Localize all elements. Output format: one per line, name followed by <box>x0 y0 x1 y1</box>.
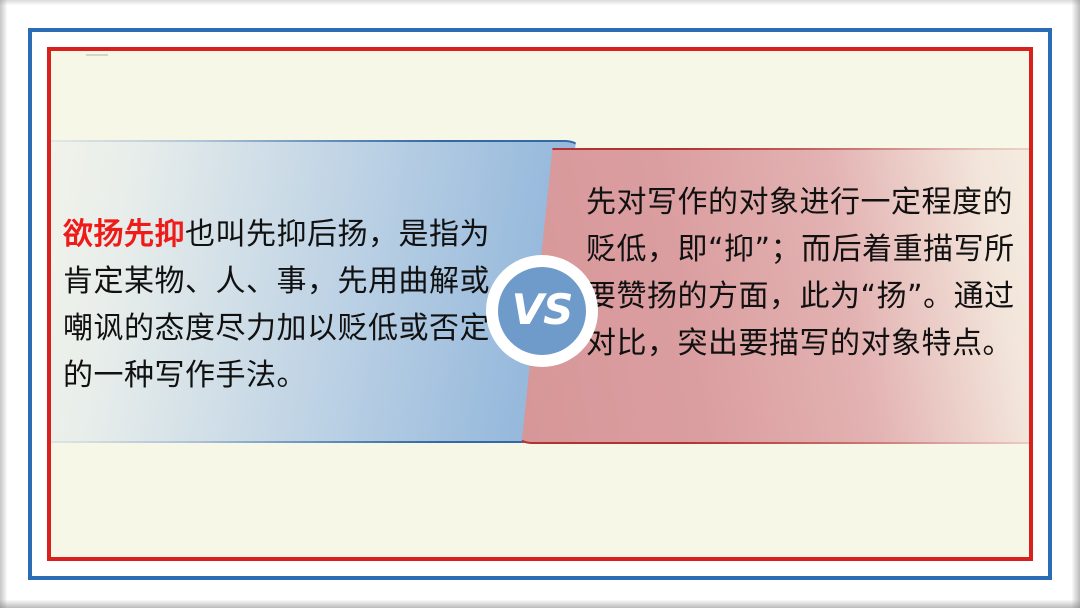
versus-label: VS <box>512 289 573 331</box>
versus-disc: VS <box>498 267 586 355</box>
page-shadow-bottom <box>0 600 1080 608</box>
page-shadow-left <box>0 0 7 608</box>
right-panel-text: 先对写作的对象进行一定程度的贬低，即“抑”；而后着重描写所要赞扬的方面，此为“扬… <box>586 179 1026 367</box>
left-panel-text: 欲扬先抑也叫先抑后扬，是指为肯定某物、人、事，先用曲解或嘲讽的态度尽力加以贬低或… <box>63 211 493 399</box>
content-stage: 欲扬先抑也叫先抑后扬，是指为肯定某物、人、事，先用曲解或嘲讽的态度尽力加以贬低或… <box>51 51 1029 557</box>
versus-badge-icon: VS <box>486 255 598 367</box>
left-panel-keyword: 欲扬先抑 <box>63 217 185 252</box>
slide-canvas: 欲扬先抑也叫先抑后扬，是指为肯定某物、人、事，先用曲解或嘲讽的态度尽力加以贬低或… <box>0 0 1080 608</box>
page-shadow-top <box>0 0 1080 5</box>
page-shadow-right <box>1072 0 1080 608</box>
